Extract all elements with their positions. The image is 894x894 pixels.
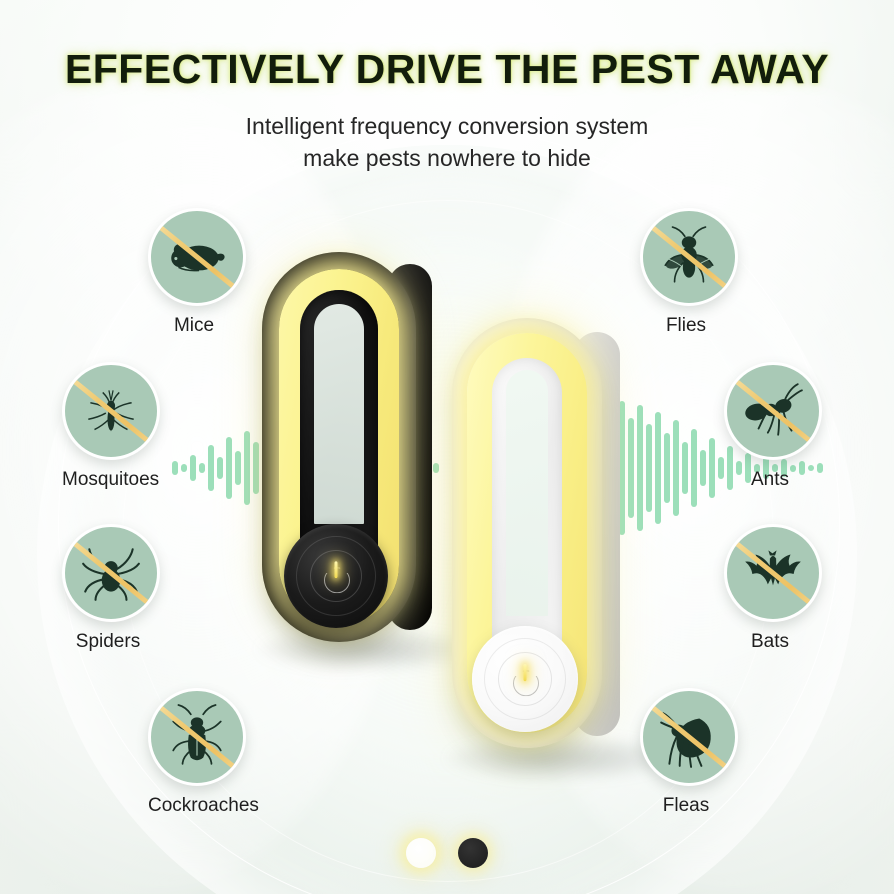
pest-label: Spiders xyxy=(62,631,154,653)
product-infographic: EFFECTIVELY DRIVE THE PEST AWAY Intellig… xyxy=(0,0,894,894)
pest-label: Cockroaches xyxy=(148,795,240,817)
pest-label: Mosquitoes xyxy=(62,469,154,491)
power-icon xyxy=(321,561,351,593)
spider-icon xyxy=(62,524,160,622)
power-icon-bar xyxy=(335,561,338,578)
pest-label: Ants xyxy=(724,469,816,491)
pest-badge-mice[interactable]: Mice xyxy=(148,208,240,337)
cockroach-icon xyxy=(148,688,246,786)
power-icon xyxy=(510,664,540,696)
device-white-power-button[interactable] xyxy=(472,626,578,732)
ant-icon xyxy=(724,362,822,460)
mouse-icon xyxy=(148,208,246,306)
device-black-window xyxy=(314,304,364,524)
mosquito-icon xyxy=(62,362,160,460)
color-swatch-white[interactable] xyxy=(406,838,436,868)
pest-label: Flies xyxy=(640,315,732,337)
flea-icon xyxy=(640,688,738,786)
page-title: EFFECTIVELY DRIVE THE PEST AWAY xyxy=(0,46,894,93)
pest-badge-cockroaches[interactable]: Cockroaches xyxy=(148,688,240,817)
device-black-power-button[interactable] xyxy=(284,524,388,628)
pest-badge-ants[interactable]: Ants xyxy=(724,362,816,491)
subtitle-line-2: make pests nowhere to hide xyxy=(0,142,894,174)
bat-icon xyxy=(724,524,822,622)
pest-label: Mice xyxy=(148,315,240,337)
pest-label: Bats xyxy=(724,631,816,653)
device-white-window xyxy=(506,370,548,616)
subtitle-line-1: Intelligent frequency conversion system xyxy=(0,110,894,142)
page-subtitle: Intelligent frequency conversion system … xyxy=(0,110,894,174)
pest-badge-mosquitoes[interactable]: Mosquitoes xyxy=(62,362,154,491)
power-icon-bar xyxy=(524,664,527,681)
pest-label: Fleas xyxy=(640,795,732,817)
fly-icon xyxy=(640,208,738,306)
pest-badge-spiders[interactable]: Spiders xyxy=(62,524,154,653)
color-swatch-black[interactable] xyxy=(458,838,488,868)
product-device-black[interactable] xyxy=(262,252,416,642)
product-device-white[interactable] xyxy=(452,318,602,748)
pest-badge-flies[interactable]: Flies xyxy=(640,208,732,337)
color-swatch-group xyxy=(0,838,894,868)
pest-badge-fleas[interactable]: Fleas xyxy=(640,688,732,817)
pest-badge-bats[interactable]: Bats xyxy=(724,524,816,653)
